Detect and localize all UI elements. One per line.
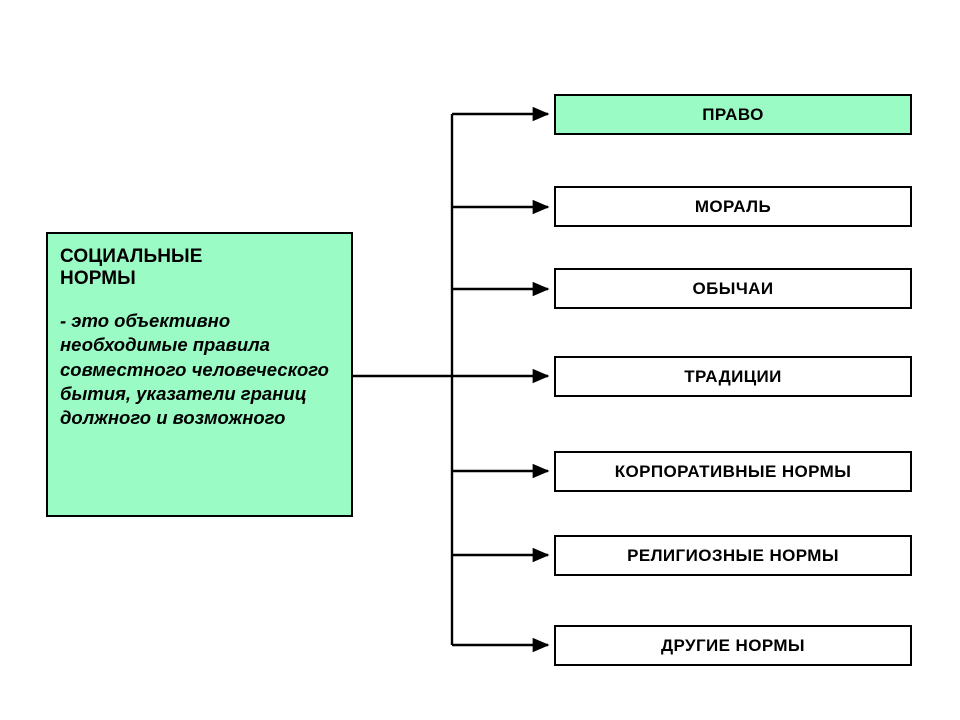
category-node-pravo[interactable]: ПРАВО <box>554 94 912 135</box>
category-label: РЕЛИГИОЗНЫЕ НОРМЫ <box>627 547 839 564</box>
category-node-obychai[interactable]: ОБЫЧАИ <box>554 268 912 309</box>
category-node-tradicii[interactable]: ТРАДИЦИИ <box>554 356 912 397</box>
category-node-moral[interactable]: МОРАЛЬ <box>554 186 912 227</box>
source-node-social-norms[interactable]: СОЦИАЛЬНЫЕ НОРМЫ - это объективно необхо… <box>46 232 353 517</box>
category-label: ОБЫЧАИ <box>693 280 774 297</box>
category-label: МОРАЛЬ <box>695 198 771 215</box>
category-label: ДРУГИЕ НОРМЫ <box>661 637 805 654</box>
category-label: ТРАДИЦИИ <box>684 368 782 385</box>
category-label: КОРПОРАТИВНЫЕ НОРМЫ <box>615 463 852 480</box>
category-node-korporativnye-normy[interactable]: КОРПОРАТИВНЫЕ НОРМЫ <box>554 451 912 492</box>
source-node-definition: - это объективно необходимые правила сов… <box>60 309 341 431</box>
category-node-drugie-normy[interactable]: ДРУГИЕ НОРМЫ <box>554 625 912 666</box>
diagram-canvas: СОЦИАЛЬНЫЕ НОРМЫ - это объективно необхо… <box>0 0 960 720</box>
category-label: ПРАВО <box>702 106 763 123</box>
source-node-title: СОЦИАЛЬНЫЕ НОРМЫ <box>60 246 341 291</box>
category-node-religioznye-normy[interactable]: РЕЛИГИОЗНЫЕ НОРМЫ <box>554 535 912 576</box>
